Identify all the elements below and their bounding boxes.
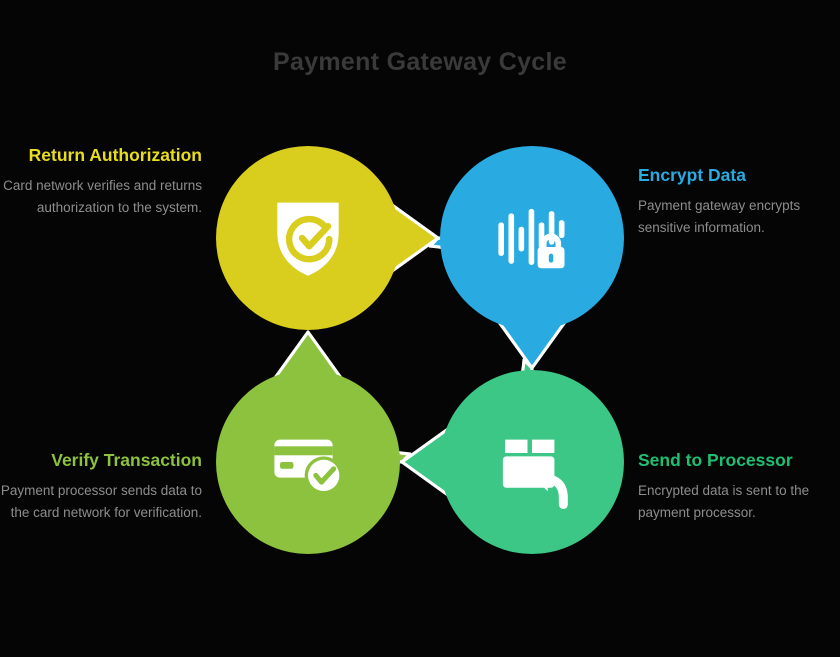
step-heading-send: Send to Processor: [638, 450, 840, 471]
diagram-canvas: Payment Gateway Cycle Return Authorizati…: [0, 0, 840, 657]
step-heading-encrypt: Encrypt Data: [638, 165, 840, 186]
page-title: Payment Gateway Cycle: [0, 48, 840, 77]
node-encrypt[interactable]: [440, 146, 624, 330]
step-description-return: Card network verifies and returns author…: [0, 175, 202, 219]
step-description-verify: Payment processor sends data to the card…: [0, 480, 202, 524]
step-description-send: Encrypted data is sent to the payment pr…: [638, 480, 840, 524]
step-text-verify: Verify Transaction Payment processor sen…: [0, 450, 202, 524]
node-send[interactable]: [440, 370, 624, 554]
step-text-send: Send to Processor Encrypted data is sent…: [638, 450, 840, 524]
node-return[interactable]: [216, 146, 400, 330]
step-heading-return: Return Authorization: [0, 145, 202, 166]
step-text-encrypt: Encrypt Data Payment gateway encrypts se…: [638, 165, 840, 239]
step-description-encrypt: Payment gateway encrypts sensitive infor…: [638, 195, 840, 239]
cycle-graphic: [180, 110, 660, 590]
step-text-return: Return Authorization Card network verifi…: [0, 145, 202, 219]
node-verify[interactable]: [216, 370, 400, 554]
step-heading-verify: Verify Transaction: [0, 450, 202, 471]
